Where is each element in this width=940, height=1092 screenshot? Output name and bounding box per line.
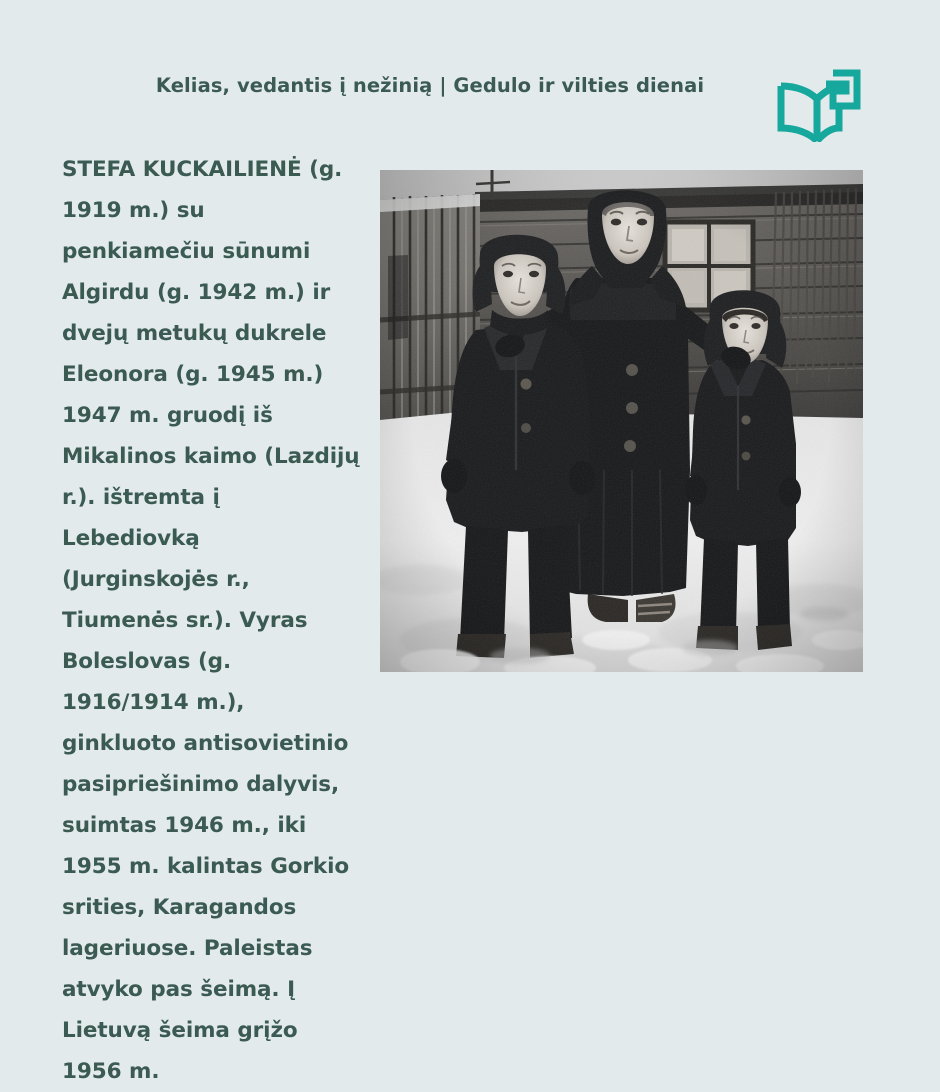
caption-text: STEFA KUCKAILIENĖ (g. 1919 m.) su penkia… — [62, 149, 362, 1092]
photograph-graphic — [380, 170, 863, 672]
open-book-logo-icon — [776, 64, 862, 142]
header: Kelias, vedantis į nežinią | Gedulo ir v… — [0, 0, 940, 155]
slide-root: Kelias, vedantis į nežinią | Gedulo ir v… — [0, 0, 940, 788]
page-title: Kelias, vedantis į nežinią | Gedulo ir v… — [120, 74, 740, 98]
historical-family-photograph — [380, 170, 863, 672]
